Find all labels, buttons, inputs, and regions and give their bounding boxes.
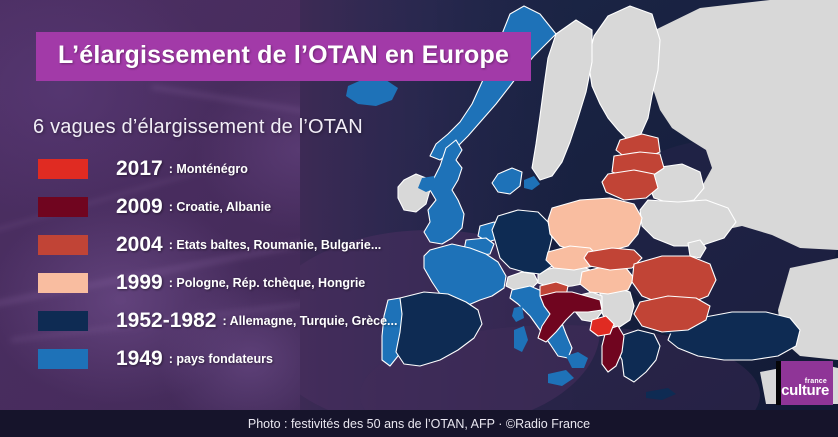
country-hongrie xyxy=(580,266,634,294)
legend-heading: 6 vagues d’élargissement de l’OTAN xyxy=(33,116,363,139)
legend-countries: : Pologne, Rép. tchèque, Hongrie xyxy=(169,276,366,290)
legend-countries: : pays fondateurs xyxy=(169,352,273,366)
legend-item-2017: 2017 : Monténégro xyxy=(38,150,438,188)
legend-item-2004: 2004 : Etats baltes, Roumanie, Bulgarie.… xyxy=(38,226,438,264)
legend-year: 2017 xyxy=(116,157,163,181)
footer-bar: Photo : festivités des 50 ans de l’OTAN,… xyxy=(0,410,838,437)
legend-item-1952-1982: 1952-1982 : Allemagne, Turquie, Grèce... xyxy=(38,302,438,340)
legend-swatch-1999 xyxy=(38,273,88,293)
legend-item-2009: 2009 : Croatie, Albanie xyxy=(38,188,438,226)
legend-item-1999: 1999 : Pologne, Rép. tchèque, Hongrie xyxy=(38,264,438,302)
legend-year: 1952-1982 xyxy=(116,309,216,333)
legend-countries: : Monténégro xyxy=(169,162,248,176)
legend-swatch-1949 xyxy=(38,349,88,369)
legend-item-1949: 1949 : pays fondateurs xyxy=(38,340,438,378)
title-banner: L’élargissement de l’OTAN en Europe xyxy=(36,32,531,81)
legend-year: 2009 xyxy=(116,195,163,219)
legend-swatch-1952-1982 xyxy=(38,311,88,331)
legend: 2017 : Monténégro 2009 : Croatie, Albani… xyxy=(38,150,438,378)
legend-year: 2004 xyxy=(116,233,163,257)
legend-countries: : Allemagne, Turquie, Grèce... xyxy=(222,314,397,328)
legend-countries: : Etats baltes, Roumanie, Bulgarie... xyxy=(169,238,382,252)
infographic-root: L’élargissement de l’OTAN en Europe 6 va… xyxy=(0,0,838,437)
page-title: L’élargissement de l’OTAN en Europe xyxy=(58,41,509,69)
legend-year: 1999 xyxy=(116,271,163,295)
legend-year: 1949 xyxy=(116,347,163,371)
country-pologne xyxy=(548,198,642,252)
legend-countries: : Croatie, Albanie xyxy=(169,200,271,214)
legend-swatch-2009 xyxy=(38,197,88,217)
footer-caption: Photo : festivités des 50 ans de l’OTAN,… xyxy=(248,417,590,431)
logo-line-culture: culture xyxy=(781,382,829,399)
legend-swatch-2017 xyxy=(38,159,88,179)
france-culture-logo: france culture xyxy=(781,361,833,405)
legend-swatch-2004 xyxy=(38,235,88,255)
